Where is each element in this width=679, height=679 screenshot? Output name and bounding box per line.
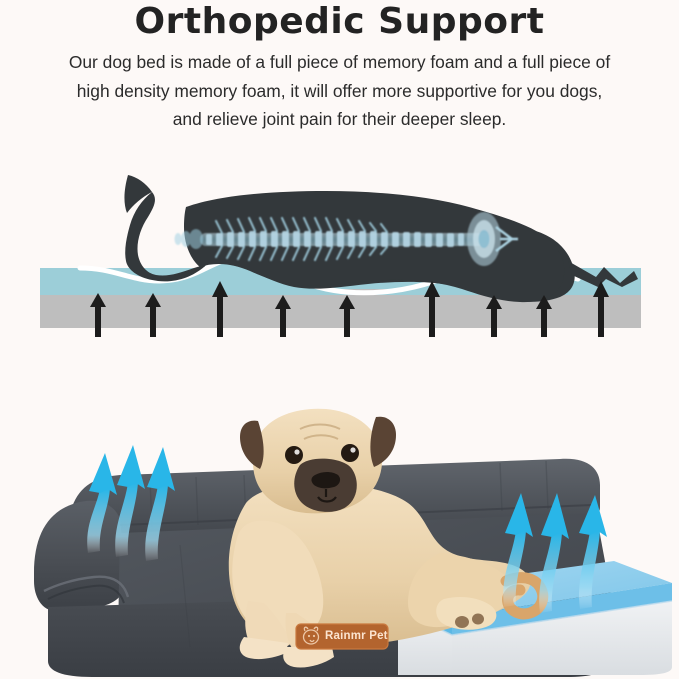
- description-line-1: Our dog bed is made of a full piece of m…: [69, 52, 610, 72]
- eye-right: [341, 444, 359, 462]
- header-block: Orthopedic Support Our dog bed is made o…: [0, 0, 679, 150]
- eye-left: [285, 446, 303, 464]
- bed-left-bolster: [34, 501, 126, 611]
- ear-right: [370, 417, 396, 467]
- page-title: Orthopedic Support: [0, 1, 679, 42]
- product-photo-block: Rainmr Pet: [0, 385, 679, 679]
- description-line-3: and relieve joint pain for their deeper …: [173, 109, 507, 129]
- spine-support-diagram: [0, 155, 679, 370]
- description-line-2: high density memory foam, it will offer …: [77, 81, 603, 101]
- infographic-page: Orthopedic Support Our dog bed is made o…: [0, 0, 679, 679]
- description-paragraph: Our dog bed is made of a full piece of m…: [6, 48, 673, 134]
- ear-left: [240, 421, 264, 469]
- brand-tag: Rainmr Pet: [296, 624, 388, 649]
- brand-tag-label: Rainmr Pet: [325, 630, 388, 642]
